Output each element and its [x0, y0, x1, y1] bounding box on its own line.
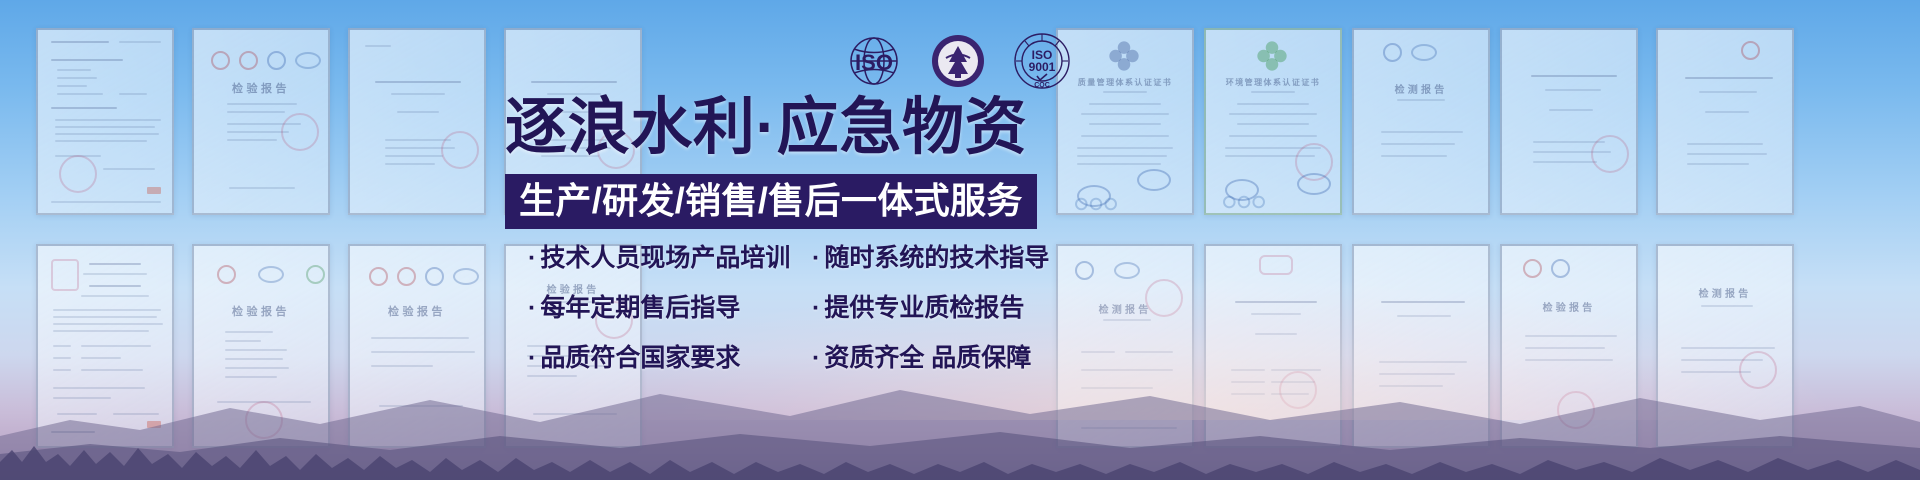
feature-item: · 技术人员现场产品培训 [528, 243, 812, 273]
certificate-document: 检验报告 [192, 28, 330, 215]
banner-title: 逐浪水利·应急物资 [505, 95, 1125, 161]
bullet-dot-icon: · [812, 243, 820, 273]
svg-text:CQC: CQC [1034, 82, 1050, 89]
svg-text:ISO: ISO [855, 50, 893, 75]
bullet-dot-icon: · [812, 343, 820, 373]
feature-list: · 技术人员现场产品培训 · 随时系统的技术指导 · 每年定期售后指导 · 提供… [528, 243, 1128, 373]
bullet-dot-icon: · [528, 343, 536, 373]
certificate-document [36, 28, 174, 215]
feature-item: · 随时系统的技术指导 [812, 243, 1112, 273]
certificate-document [348, 28, 486, 215]
certificate-document: 检测报告 [1352, 28, 1490, 215]
subtitle-bar: 生产/研发/销售/售后一体式服务 [505, 174, 1037, 230]
headline-block: 逐浪水利·应急物资 生产/研发/销售/售后一体式服务 [505, 95, 1125, 229]
banner-subtitle: 生产/研发/销售/售后一体式服务 [519, 181, 1023, 221]
feature-item: · 品质符合国家要求 [528, 343, 812, 373]
feature-label: 品质符合国家要求 [540, 343, 740, 373]
bullet-dot-icon: · [528, 243, 536, 273]
feature-item: · 每年定期售后指导 [528, 293, 812, 323]
feature-item: · 资质齐全 品质保障 [812, 343, 1112, 373]
feature-label: 提供专业质检报告 [824, 293, 1024, 323]
svg-text:9001: 9001 [1029, 60, 1056, 74]
bullet-dot-icon: · [528, 293, 536, 323]
feature-label: 随时系统的技术指导 [824, 243, 1049, 273]
feature-label: 技术人员现场产品培训 [540, 243, 790, 273]
iso-globe-badge: ISO [845, 32, 903, 90]
feature-label: 每年定期售后指导 [540, 293, 740, 323]
certificate-document [1500, 28, 1638, 215]
promo-banner: 检验报告 [0, 0, 1920, 480]
feature-item: · 提供专业质检报告 [812, 293, 1112, 323]
feature-label: 资质齐全 品质保障 [824, 343, 1031, 373]
iso14000-environment-badge [929, 32, 987, 90]
iso9001-cqc-badge: ISO 9001 CQC [1013, 32, 1071, 90]
certificate-document [1656, 28, 1794, 215]
iso-badge-group: ISO [845, 32, 1071, 90]
certificate-document: 环境管理体系认证证书 [1204, 28, 1342, 215]
bullet-dot-icon: · [812, 293, 820, 323]
